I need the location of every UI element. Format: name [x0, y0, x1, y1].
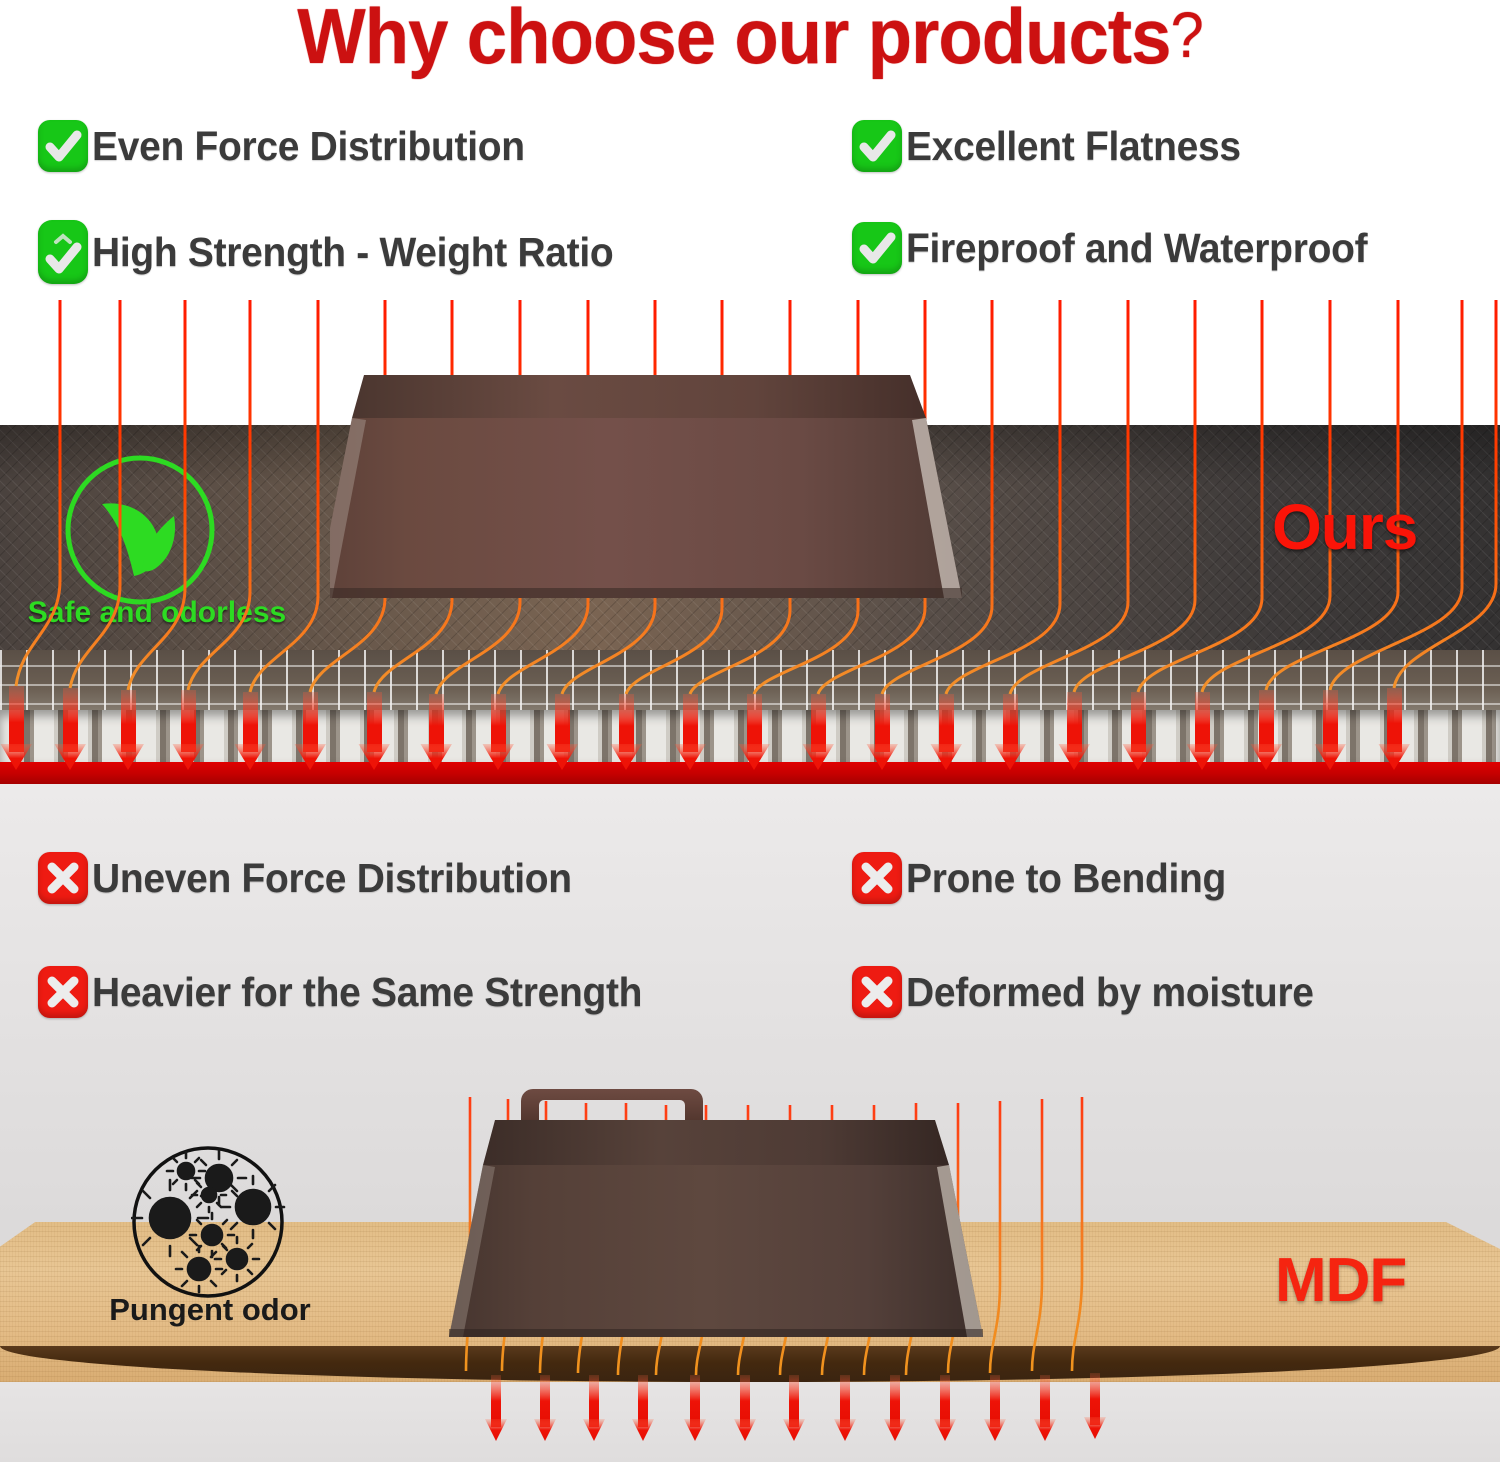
odor-badge-caption: Pungent odor [85, 1292, 335, 1328]
pro-item-fireproof-and-waterproof: Fireproof and Waterproof [852, 222, 1392, 274]
leaf-icon [62, 452, 218, 608]
infographic-page: Why choose our products? Even Force Dist… [0, 0, 1500, 1462]
pro-item-excellent-flatness: Excellent Flatness [852, 120, 1258, 172]
germs-icon [131, 1145, 286, 1300]
check-glyph [38, 120, 88, 172]
con-item-uneven-force-distribution: Uneven Force Distribution [38, 852, 597, 904]
pro-item-even-force-distribution: Even Force Distribution [38, 120, 548, 172]
check-icon [38, 220, 88, 284]
check-glyph [852, 120, 902, 172]
cross-glyph [38, 966, 88, 1018]
cross-glyph [38, 852, 88, 904]
test-weight-bottom [395, 1075, 1115, 1365]
con-item-prone-to-bending: Prone to Bending [852, 852, 1243, 904]
base-red-bar [0, 762, 1500, 784]
check-icon [38, 120, 88, 172]
cross-icon [38, 966, 88, 1018]
weight-top-slab [352, 375, 926, 418]
weight-body [330, 418, 962, 598]
cross-icon [38, 852, 88, 904]
pro-item-high-strength-weight-ratio: High Strength - Weight Ratio [38, 220, 641, 284]
pro-item-label: High Strength - Weight Ratio [92, 229, 613, 276]
cross-icon [852, 852, 902, 904]
page-title: Why choose our products? [53, 0, 1448, 78]
mdf-bottom-background [0, 1382, 1500, 1462]
weight-top-slab-bottom [483, 1120, 949, 1165]
test-weight-top [330, 300, 1170, 610]
con-item-label: Heavier for the Same Strength [92, 969, 642, 1016]
cross-icon [852, 966, 902, 1018]
con-item-deformed-by-moisture: Deformed by moisture [852, 966, 1335, 1018]
title-question-mark: ? [1171, 0, 1203, 71]
check-icon [852, 222, 902, 274]
mdf-label: MDF [1275, 1245, 1406, 1316]
eco-badge-caption: Safe and odorless [22, 596, 292, 630]
con-item-heavier-for-the-same-strength: Heavier for the Same Strength [38, 966, 671, 1018]
mdf-corner-right [1442, 1222, 1500, 1250]
check-icon [852, 120, 902, 172]
mdf-corner-left [0, 1222, 38, 1248]
honeycomb-lower-row [0, 710, 1500, 762]
title-text: Why choose our products [297, 0, 1170, 80]
pro-item-label: Even Force Distribution [92, 123, 525, 170]
ours-label: Ours [1272, 490, 1417, 564]
pro-item-label: Fireproof and Waterproof [906, 225, 1367, 272]
cross-glyph [852, 852, 902, 904]
con-item-label: Uneven Force Distribution [92, 855, 572, 902]
honeycomb-core [0, 650, 1500, 762]
cross-glyph [852, 966, 902, 1018]
con-item-label: Deformed by moisture [906, 969, 1314, 1016]
weight-body-bottom [449, 1165, 983, 1337]
check-glyph [38, 220, 88, 284]
pro-item-label: Excellent Flatness [906, 123, 1241, 170]
check-glyph [852, 222, 902, 274]
con-item-label: Prone to Bending [906, 855, 1226, 902]
